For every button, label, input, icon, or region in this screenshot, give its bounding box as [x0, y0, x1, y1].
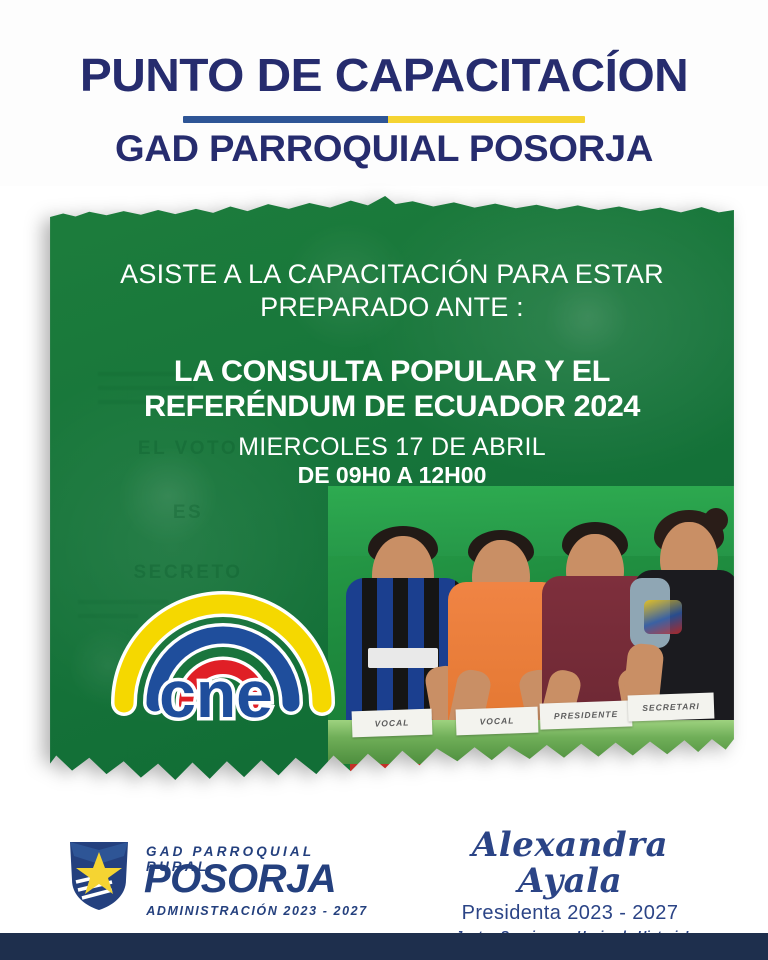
voting-table: VOCAL VOCAL PRESIDENTE SECRETARI	[328, 698, 736, 764]
signature-role: Presidenta 2023 - 2027	[415, 902, 725, 925]
watermark-line-2: ES	[68, 502, 308, 524]
header-divider	[183, 116, 585, 123]
vest-emblem-icon	[644, 600, 682, 634]
cne-logo: cne	[108, 571, 338, 731]
jersey-logo	[368, 648, 438, 668]
panel-time: DE 09H0 A 12H00	[92, 462, 692, 490]
poster-footer: GAD PARROQUIAL RURAL POSORJA ADMINISTRAC…	[0, 810, 768, 935]
training-photo: VOCAL VOCAL PRESIDENTE SECRETARI	[328, 486, 736, 780]
signature-name: Alexandra Ayala	[415, 828, 725, 899]
panel-lead-text: ASISTE A LA CAPACITACIÓN PARA ESTAR PREP…	[92, 258, 692, 324]
panel-headline: LA CONSULTA POPULAR Y EL REFERÉNDUM DE E…	[86, 354, 698, 425]
page-title: PUNTO DE CAPACITACÍON	[0, 52, 768, 98]
signature-block: Alexandra Ayala Presidenta 2023 - 2027 ¡…	[415, 828, 725, 943]
divider-blue-segment	[183, 116, 388, 123]
page-subtitle: GAD PARROQUIAL POSORJA	[0, 130, 768, 167]
poster-header: PUNTO DE CAPACITACÍON GAD PARROQUIAL POS…	[0, 0, 768, 186]
panel-date: MIERCOLES 17 DE ABRIL	[92, 432, 692, 462]
posorja-logo: GAD PARROQUIAL RURAL POSORJA ADMINISTRAC…	[62, 832, 362, 924]
table-sign-presidente: PRESIDENTE	[540, 700, 633, 729]
table-sign-vocal-1: VOCAL	[352, 709, 433, 738]
posorja-admin-period: ADMINISTRACIÓN 2023 - 2027	[122, 904, 392, 918]
green-panel-container: EL VOTO ES SECRETO	[48, 196, 736, 780]
shield-icon	[62, 836, 136, 912]
table-sign-vocal-2: VOCAL	[456, 707, 539, 736]
bottom-bar	[0, 933, 768, 960]
cne-logo-text: cne	[159, 657, 273, 731]
table-sign-secretario: SECRETARI	[628, 693, 715, 722]
posorja-name: POSORJA	[144, 859, 384, 899]
divider-yellow-segment	[388, 116, 585, 123]
green-panel: EL VOTO ES SECRETO	[48, 196, 736, 780]
